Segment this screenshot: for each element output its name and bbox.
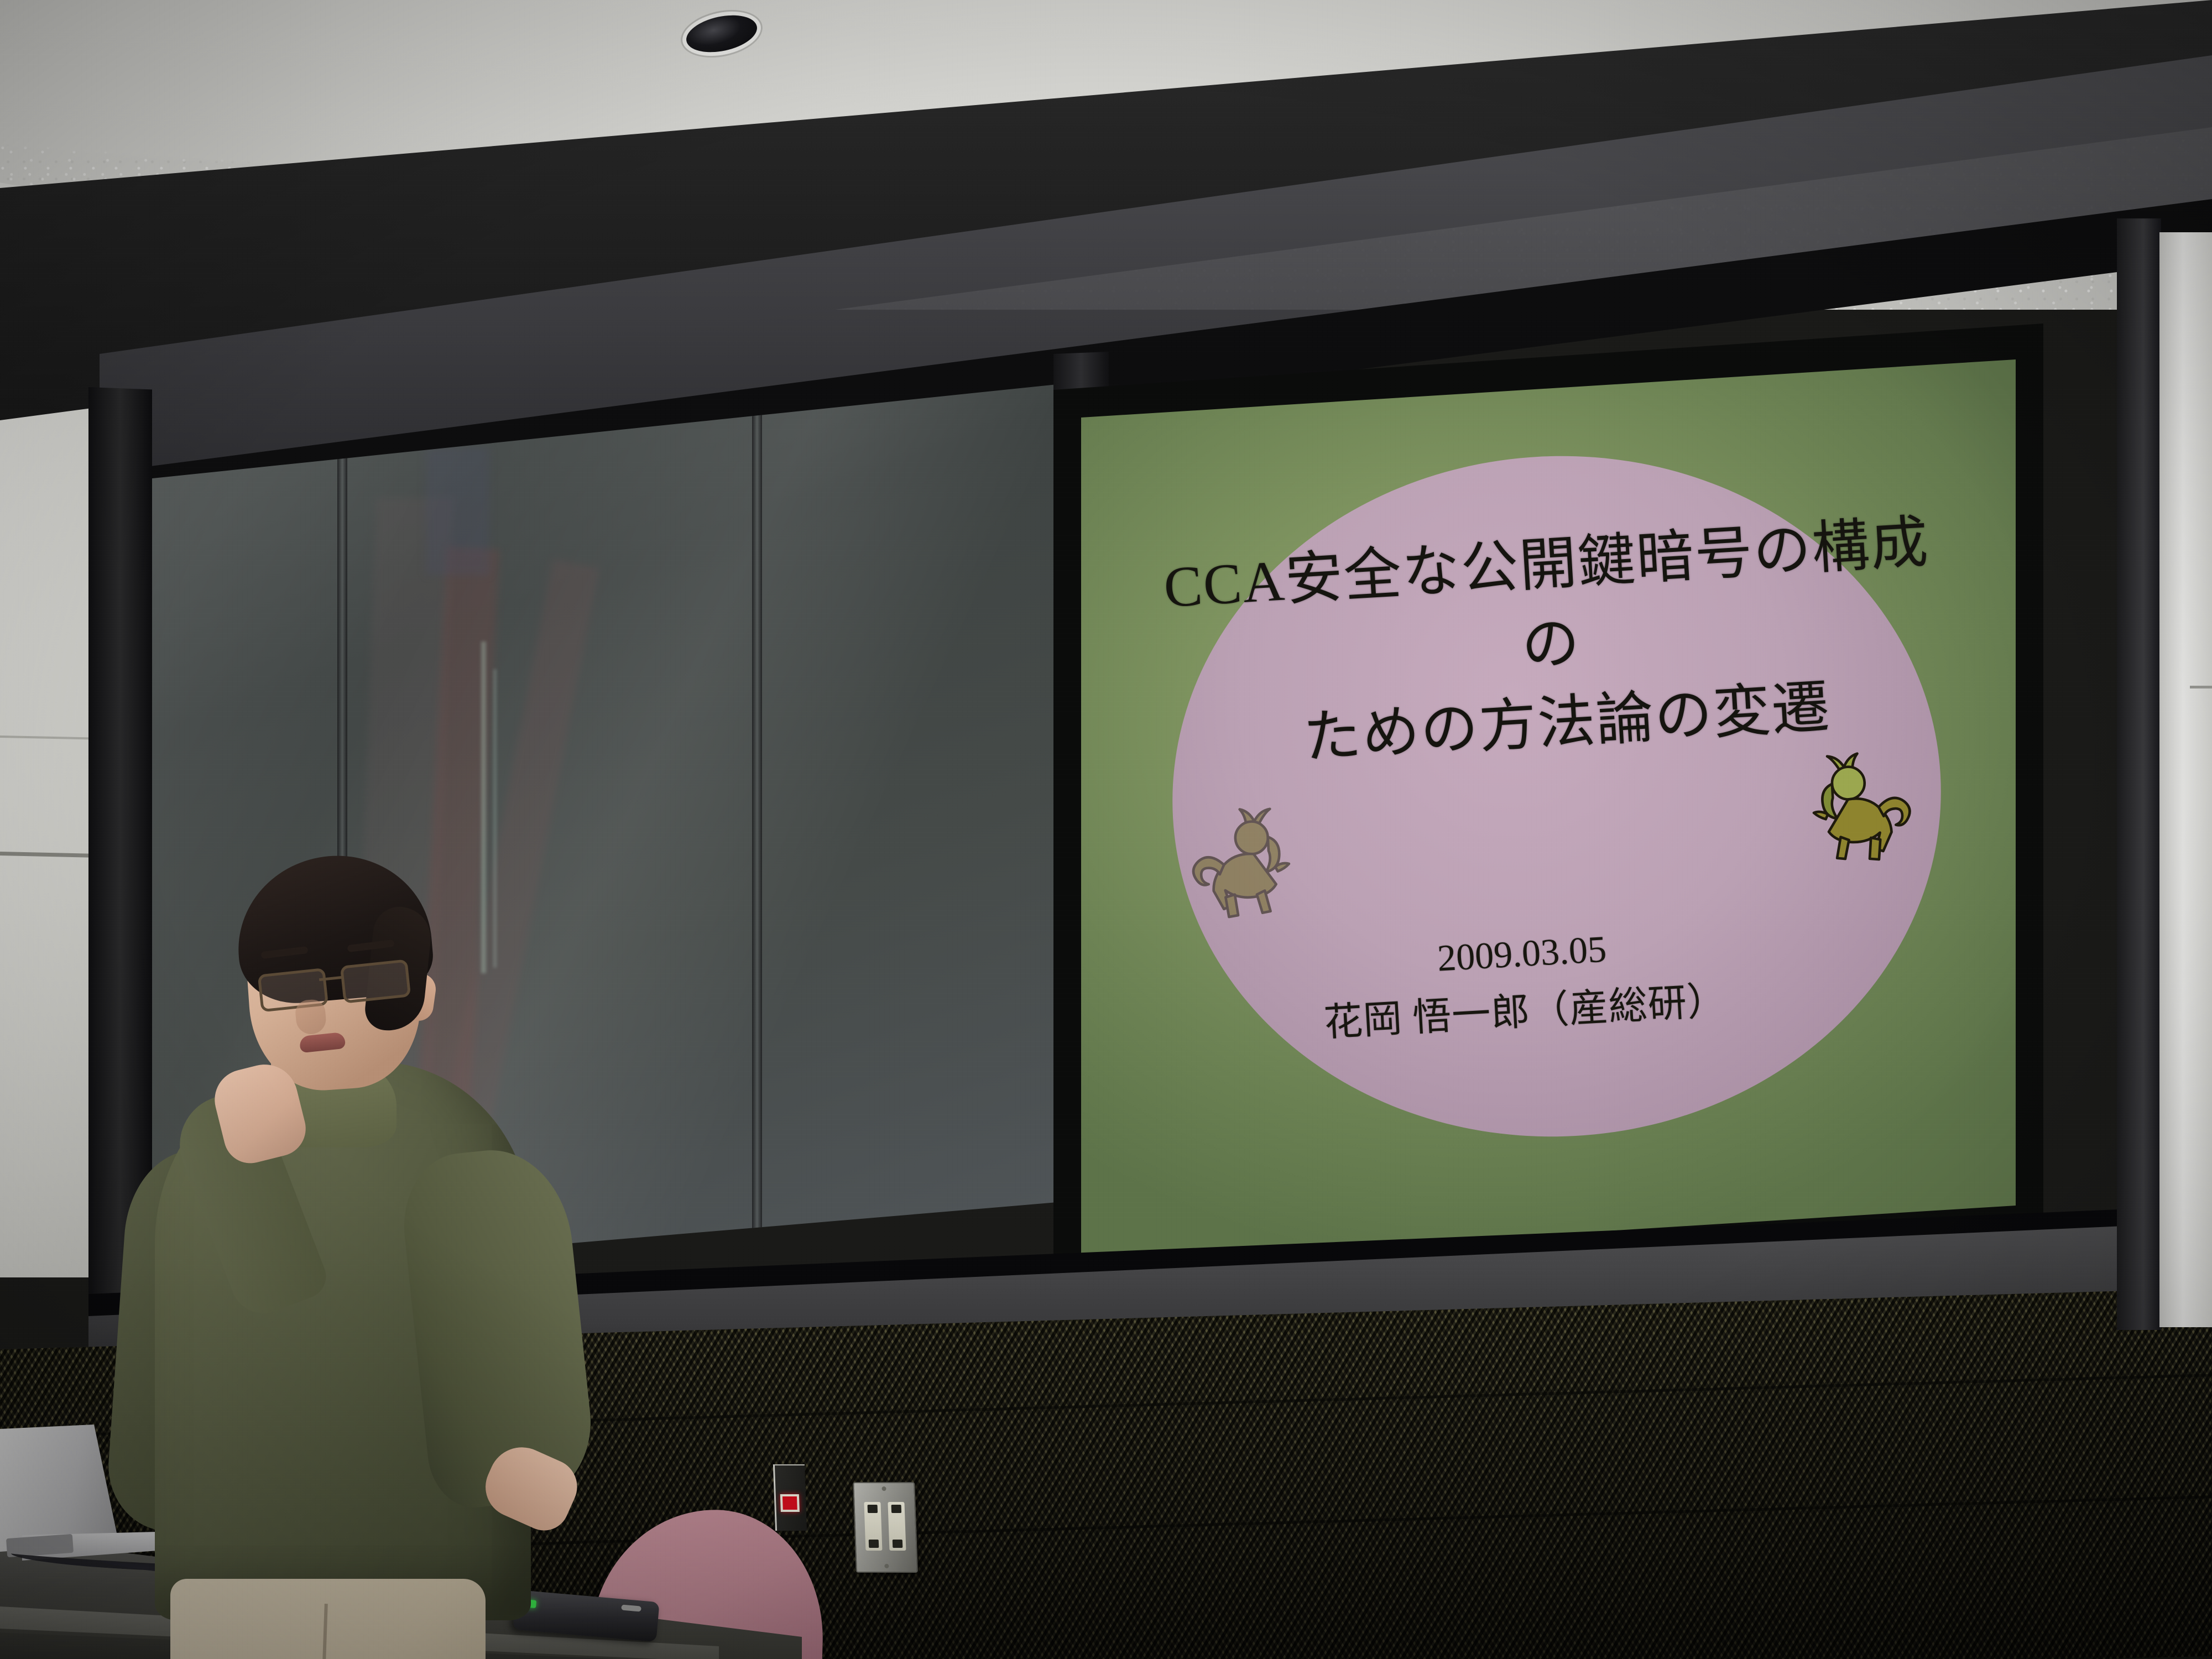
wall-seam	[2190, 686, 2212, 688]
remote-button[interactable]	[621, 1605, 641, 1612]
heraldic-lion-icon	[1794, 744, 1917, 869]
outlet-socket	[864, 1502, 882, 1551]
slide-title: CCA安全な公開鍵暗号の構成の ための方法論の変遷	[1149, 502, 1953, 787]
red-indicator-icon	[780, 1494, 800, 1512]
power-outlet[interactable]	[853, 1482, 918, 1573]
slide-date: 2009.03.05	[1436, 928, 1608, 979]
presenter-trousers	[170, 1579, 486, 1659]
right-frame-post	[2117, 218, 2161, 1330]
heraldic-lion-icon	[1186, 799, 1308, 924]
slide-title-line1: CCA安全な公開鍵暗号の構成の	[1162, 510, 1931, 677]
window-mullion	[752, 382, 762, 1283]
indicator-plate[interactable]	[773, 1464, 807, 1531]
presenter	[105, 841, 603, 1659]
screw-icon	[884, 1564, 889, 1568]
glasses-lens	[340, 959, 411, 1003]
outlet-socket	[888, 1502, 906, 1551]
screw-icon	[881, 1486, 886, 1491]
right-wall-strip	[2159, 232, 2212, 1327]
projection-screen: CCA安全な公開鍵暗号の構成の ための方法論の変遷 2009.03.05 花岡 …	[1081, 359, 2016, 1264]
photo-scene: CCA安全な公開鍵暗号の構成の ための方法論の変遷 2009.03.05 花岡 …	[0, 0, 2212, 1659]
